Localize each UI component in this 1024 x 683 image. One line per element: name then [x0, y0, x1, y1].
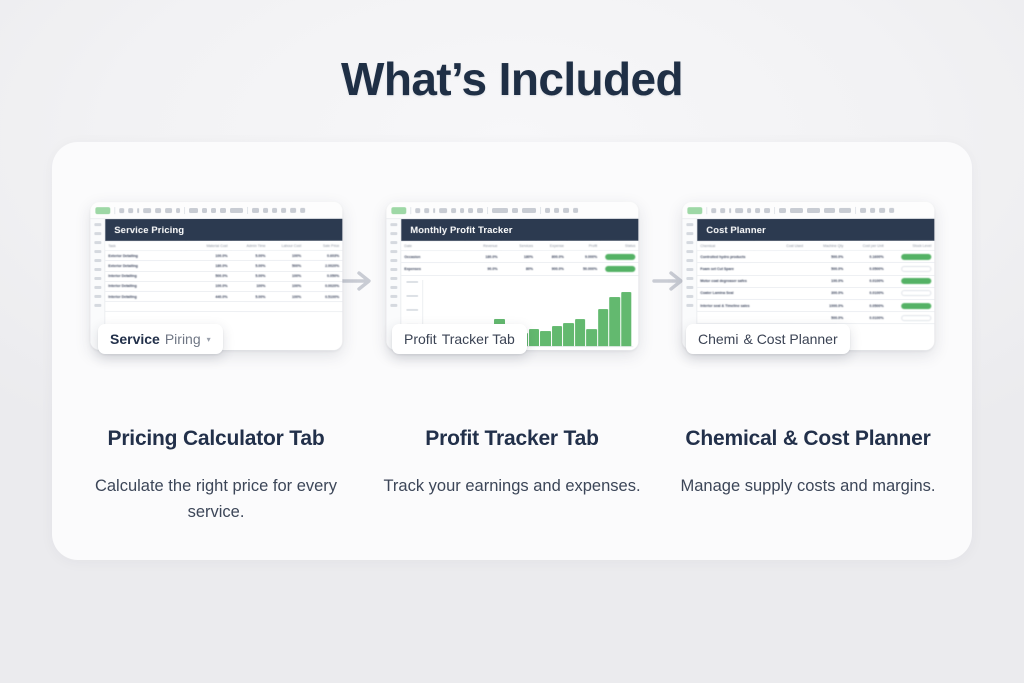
cell-services: 180%	[501, 251, 537, 263]
font-size-icon[interactable]	[512, 207, 518, 212]
print-icon[interactable]	[433, 208, 435, 213]
pricing-table: Task Material Cost Admin Time Labour Cos…	[105, 241, 342, 313]
decimal-icon[interactable]	[176, 208, 180, 213]
row-marker	[390, 259, 397, 262]
cell-empty	[269, 302, 305, 312]
cell-chemical: Controlled hydro products	[697, 251, 806, 263]
cell-profit: 9.000%	[567, 251, 600, 263]
cell-empty	[304, 302, 342, 312]
table-row[interactable]: 500.0% 0.0100%	[697, 312, 934, 324]
row-marker	[390, 232, 397, 235]
sheet-tab-chip-profit-tracker[interactable]: Profit Tracker Tab	[392, 324, 527, 354]
font-size-icon[interactable]	[202, 208, 207, 213]
toolbar-divider	[184, 207, 185, 214]
cell-chemical: Motor coat degreaser safes	[697, 275, 806, 287]
redo-icon[interactable]	[128, 208, 133, 213]
cell-material: 100.0%	[186, 251, 231, 261]
cell-status	[600, 251, 638, 263]
row-marker	[94, 268, 101, 271]
table-row[interactable]: Controlled hydro products 500.0% 0.1600%	[697, 251, 934, 263]
cell-machine-qty: 500.0%	[806, 312, 846, 324]
chart-icon[interactable]	[563, 207, 569, 212]
cell-task: Interior Detailing	[105, 271, 185, 281]
format-icon[interactable]	[779, 208, 786, 213]
toolbar-divider	[855, 206, 856, 213]
font-select-icon[interactable]	[189, 208, 198, 213]
cell-sale-price: 0.603%	[304, 251, 342, 261]
cell-sale-price: 2.0020%	[304, 261, 342, 271]
cell-material: 500.0%	[186, 271, 231, 281]
cell-expense: 800.0%	[536, 251, 567, 263]
cell-cost-per-unit: 0.0100%	[846, 312, 886, 324]
table-row[interactable]: Expenses 90.0% 80% 900.0% 50.000%	[401, 263, 638, 275]
content-panel: Service Pricing Task Material Cost Admin…	[52, 142, 972, 560]
sheet-title-bar: Monthly Profit Tracker	[401, 219, 638, 241]
cell-task: Exterior Detailing	[105, 251, 185, 261]
row-marker	[94, 295, 101, 298]
cell-chemical: Foam set Cut Spare	[697, 263, 806, 275]
profit-table: Date Revenue Services Expense Profit Sta…	[401, 241, 638, 276]
table-row[interactable]: Exterior Detailing 180.0% 5.00% 500% 2.0…	[105, 261, 342, 271]
chart-bar	[552, 326, 563, 346]
cell-stock-level	[887, 275, 935, 287]
table-row[interactable]: Interior Detailing 440.0% 5.00% 100% 0.5…	[105, 291, 342, 301]
table-header-row: Task Material Cost Admin Time Labour Cos…	[105, 241, 342, 251]
y-tick-label	[406, 281, 418, 283]
table-header-row: Chemical Cost Used Machine Qty Cost per …	[697, 241, 934, 251]
cell-machine-qty: 300.0%	[806, 287, 846, 299]
align-icon[interactable]	[545, 207, 550, 212]
undo-icon[interactable]	[415, 208, 420, 213]
chart-bar	[598, 309, 609, 346]
redo-icon[interactable]	[720, 208, 725, 213]
status-badge-empty	[901, 290, 931, 296]
row-marker	[390, 268, 397, 271]
row-marker	[390, 223, 397, 226]
col-cost-per-unit: Cost per Unit	[846, 241, 886, 251]
row-marker	[94, 277, 101, 280]
col-chemical: Chemical	[697, 241, 754, 251]
table-row[interactable]: Interior seal & Timeline sales 1000.0% 0…	[697, 299, 934, 311]
cell-admin: 5.00%	[231, 291, 269, 301]
status-badge	[901, 303, 931, 309]
chart-bar	[575, 320, 586, 347]
chip-label-strong: Chemi	[698, 331, 738, 347]
toolbar-divider	[410, 207, 411, 214]
caption-pricing-calculator: Pricing Calculator Tab Calculate the rig…	[76, 424, 356, 526]
cell-admin: 5.00%	[231, 251, 269, 261]
sheet-toolbar[interactable]	[682, 202, 934, 219]
status-badge	[901, 254, 931, 260]
row-marker	[686, 241, 693, 244]
fill-color-icon[interactable]	[824, 207, 835, 212]
table-row[interactable]: Interior Detailing 100.0% 100% 100% 0.00…	[105, 281, 342, 291]
table-row[interactable]: Interior Detailing 500.0% 5.00% 100% 0.0…	[105, 271, 342, 281]
chart-icon[interactable]	[290, 207, 296, 212]
format-icon[interactable]	[477, 208, 483, 213]
undo-icon[interactable]	[711, 208, 716, 213]
zoom-select-icon[interactable]	[439, 208, 447, 213]
fill-color-icon[interactable]	[230, 207, 243, 212]
col-sale-price: Sale Price	[304, 241, 342, 251]
status-badge-empty	[901, 266, 931, 272]
feature-column-chemical-cost-planner: Cost Planner Chemical Cost Used Machine …	[682, 202, 934, 350]
print-icon[interactable]	[729, 208, 731, 213]
col-revenue: Revenue	[465, 241, 500, 251]
cell-machine-qty: 100.0%	[806, 275, 846, 287]
cell-cost-per-unit: 0.1600%	[846, 251, 886, 263]
col-profit: Profit	[567, 241, 600, 251]
col-cost-used: Cost Used	[754, 241, 806, 251]
cell-empty	[105, 302, 185, 312]
col-admin-time: Admin Time	[231, 241, 269, 251]
cell-material: 440.0%	[186, 291, 231, 301]
sheet-tab-chip-cost-planner[interactable]: Chemi & Cost Planner	[686, 324, 850, 354]
sheet-title-bar: Service Pricing	[105, 219, 342, 241]
cell-admin: 5.00%	[231, 261, 269, 271]
cell-labour: 500%	[269, 261, 305, 271]
print-icon[interactable]	[137, 208, 139, 213]
toolbar-divider	[114, 207, 115, 214]
cell-task: Interior Detailing	[105, 291, 185, 301]
toolbar-divider	[774, 207, 775, 214]
row-marker	[686, 232, 693, 235]
cell-machine-qty: 500.0%	[806, 263, 846, 275]
chip-label-strong: Profit	[404, 331, 437, 347]
font-select-icon[interactable]	[492, 208, 508, 213]
row-marker	[94, 241, 101, 244]
currency-icon[interactable]	[451, 208, 456, 213]
table-row[interactable]: Foam set Cut Spare 500.0% 0.0500%	[697, 263, 934, 275]
toolbar-divider	[247, 206, 248, 213]
decimal-icon[interactable]	[764, 208, 770, 213]
zoom-select-icon[interactable]	[143, 208, 151, 213]
row-marker	[94, 232, 101, 235]
cell-machine-qty: 500.0%	[806, 251, 846, 263]
cell-stock-level	[887, 251, 935, 263]
caption-text: Calculate the right price for every serv…	[76, 474, 356, 525]
col-status: Status	[600, 241, 638, 251]
chart-bar	[586, 329, 597, 346]
row-marker	[686, 277, 693, 280]
row-marker	[686, 268, 693, 271]
row-marker	[94, 304, 101, 307]
row-marker	[390, 277, 397, 280]
cell-revenue: 180.0%	[465, 251, 500, 263]
y-tick-label	[406, 309, 418, 311]
status-badge	[901, 278, 931, 284]
functions-icon[interactable]	[889, 207, 894, 212]
undo-icon[interactable]	[119, 208, 124, 213]
row-marker	[94, 250, 101, 253]
chip-label-soft: Piring	[165, 331, 201, 347]
cell-material: 180.0%	[186, 261, 231, 271]
row-marker	[390, 304, 397, 307]
table-row[interactable]: Motor coat degreaser safes 100.0% 0.0100…	[697, 275, 934, 287]
cell-profit: 50.000%	[567, 263, 600, 275]
caption-profit-tracker: Profit Tracker Tab Track your earnings a…	[372, 424, 652, 500]
caption-title: Chemical & Cost Planner	[658, 424, 958, 454]
status-badge	[605, 266, 635, 272]
y-tick-label	[406, 295, 418, 297]
align-icon[interactable]	[252, 207, 259, 212]
cell-stock-level	[887, 299, 935, 311]
align-icon[interactable]	[860, 207, 866, 212]
cell-labour: 100%	[269, 291, 305, 301]
cell-cost-per-unit: 0.0100%	[846, 275, 886, 287]
table-row-empty[interactable]	[105, 302, 342, 312]
cell-task: Exterior Detailing	[105, 261, 185, 271]
page-title: What’s Included	[0, 52, 1024, 106]
border-icon[interactable]	[839, 207, 851, 212]
row-marker	[390, 241, 397, 244]
status-badge-empty	[901, 315, 931, 321]
currency-icon[interactable]	[155, 208, 161, 213]
sheet-logo-icon	[391, 207, 406, 214]
sheet-toolbar[interactable]	[90, 202, 342, 219]
row-marker	[686, 304, 693, 307]
caption-chemical-cost-planner: Chemical & Cost Planner Manage supply co…	[658, 424, 958, 500]
col-stock-level: Stock Level	[887, 241, 935, 251]
filter-icon[interactable]	[281, 207, 286, 212]
font-select-icon[interactable]	[790, 208, 803, 213]
cell-cost-per-unit: 0.0500%	[846, 299, 886, 311]
feature-columns: Service Pricing Task Material Cost Admin…	[52, 142, 972, 560]
chip-label-soft: Tracker Tab	[442, 331, 515, 347]
caption-text: Manage supply costs and margins.	[658, 474, 958, 500]
chip-label-strong: Service	[110, 331, 160, 347]
col-machine-qty: Machine Qty	[806, 241, 846, 251]
cell-date: Expenses	[401, 263, 465, 275]
chip-label-soft: & Cost Planner	[743, 331, 837, 347]
chart-bar	[563, 323, 574, 346]
feature-column-pricing-calculator: Service Pricing Task Material Cost Admin…	[90, 202, 342, 350]
caption-title: Pricing Calculator Tab	[76, 424, 356, 454]
sheet-toolbar[interactable]	[386, 202, 638, 219]
sheet-logo-icon	[687, 207, 702, 214]
sheet-tab-chip-service-pricing[interactable]: Service Piring ▾	[98, 324, 223, 354]
font-size-icon[interactable]	[807, 207, 820, 212]
row-marker	[390, 295, 397, 298]
fill-color-icon[interactable]	[522, 207, 536, 212]
chart-bar	[529, 329, 540, 346]
filter-icon[interactable]	[554, 207, 559, 212]
toolbar-divider	[706, 207, 707, 214]
cell-material: 100.0%	[186, 281, 231, 291]
cell-expense: 900.0%	[536, 263, 567, 275]
col-labour-cost: Labour Cost	[269, 241, 305, 251]
cell-labour: 100%	[269, 251, 305, 261]
cell-status	[600, 263, 638, 275]
cell-stock-level	[887, 287, 935, 299]
toolbar-divider	[487, 207, 488, 214]
chart-bar	[621, 292, 632, 347]
caption-text: Track your earnings and expenses.	[372, 474, 652, 500]
table-row[interactable]: Coater Lamina Seal 300.0% 0.0100%	[697, 287, 934, 299]
chart-bar	[609, 297, 620, 346]
col-expense: Expense	[536, 241, 567, 251]
chart-icon[interactable]	[879, 207, 885, 212]
table-row[interactable]: Exterior Detailing 100.0% 5.00% 100% 0.6…	[105, 251, 342, 261]
decimal-icon[interactable]	[468, 208, 473, 213]
percent-icon[interactable]	[755, 208, 760, 213]
row-marker	[390, 250, 397, 253]
cell-chemical: Coater Lamina Seal	[697, 287, 806, 299]
cell-stock-level	[887, 263, 935, 275]
redo-icon[interactable]	[424, 208, 429, 213]
functions-icon[interactable]	[300, 207, 305, 212]
cost-planner-table: Chemical Cost Used Machine Qty Cost per …	[697, 241, 934, 325]
cell-admin: 5.00%	[231, 271, 269, 281]
merge-icon[interactable]	[263, 207, 268, 212]
bold-icon[interactable]	[211, 208, 216, 213]
cell-cost-per-unit: 0.0100%	[846, 287, 886, 299]
col-material-cost: Material Cost	[186, 241, 231, 251]
cell-machine-qty: 1000.0%	[806, 299, 846, 311]
feature-column-profit-tracker: Monthly Profit Tracker Date Revenue Serv…	[386, 202, 638, 350]
row-marker	[686, 295, 693, 298]
col-task: Task	[105, 241, 185, 251]
cell-sale-price: 0.5100%	[304, 291, 342, 301]
row-marker	[94, 259, 101, 262]
cell-stock-level	[887, 312, 935, 324]
cell-labour: 100%	[269, 281, 305, 291]
cell-empty	[231, 302, 269, 312]
sheet-title-bar: Cost Planner	[697, 219, 934, 241]
currency-icon[interactable]	[747, 208, 751, 213]
cell-date: Occasion	[401, 251, 465, 263]
percent-icon[interactable]	[165, 208, 172, 213]
table-header-row: Date Revenue Services Expense Profit Sta…	[401, 241, 638, 251]
chevron-down-icon[interactable]: ▾	[207, 335, 211, 344]
filter-icon[interactable]	[870, 207, 875, 212]
wrap-icon[interactable]	[272, 207, 277, 212]
cell-sale-price: 0.050%	[304, 271, 342, 281]
cell-sale-price: 0.0020%	[304, 281, 342, 291]
row-marker	[686, 250, 693, 253]
cell-services: 80%	[501, 263, 537, 275]
zoom-select-icon[interactable]	[735, 208, 743, 213]
cell-admin: 100%	[231, 281, 269, 291]
cell-task: Interior Detailing	[105, 281, 185, 291]
row-marker	[94, 223, 101, 226]
sheet-logo-icon	[95, 207, 110, 214]
caption-title: Profit Tracker Tab	[372, 424, 652, 454]
row-marker	[94, 286, 101, 289]
cell-cost-per-unit: 0.0500%	[846, 263, 886, 275]
toolbar-divider	[540, 206, 541, 213]
col-services: Services	[501, 241, 537, 251]
percent-icon[interactable]	[460, 208, 464, 213]
italic-icon[interactable]	[220, 207, 226, 212]
table-row[interactable]: Occasion 180.0% 180% 800.0% 9.000%	[401, 251, 638, 263]
cell-labour: 100%	[269, 271, 305, 281]
chart-bar	[540, 331, 551, 346]
row-marker	[390, 286, 397, 289]
col-date: Date	[401, 241, 465, 251]
cell-chemical: Interior seal & Timeline sales	[697, 299, 806, 311]
row-marker	[686, 223, 693, 226]
cell-empty	[186, 302, 231, 312]
row-marker	[686, 259, 693, 262]
cell-revenue: 90.0%	[465, 263, 500, 275]
cell-chemical	[697, 312, 806, 324]
status-badge	[605, 254, 635, 260]
functions-icon[interactable]	[573, 207, 578, 212]
row-marker	[686, 286, 693, 289]
